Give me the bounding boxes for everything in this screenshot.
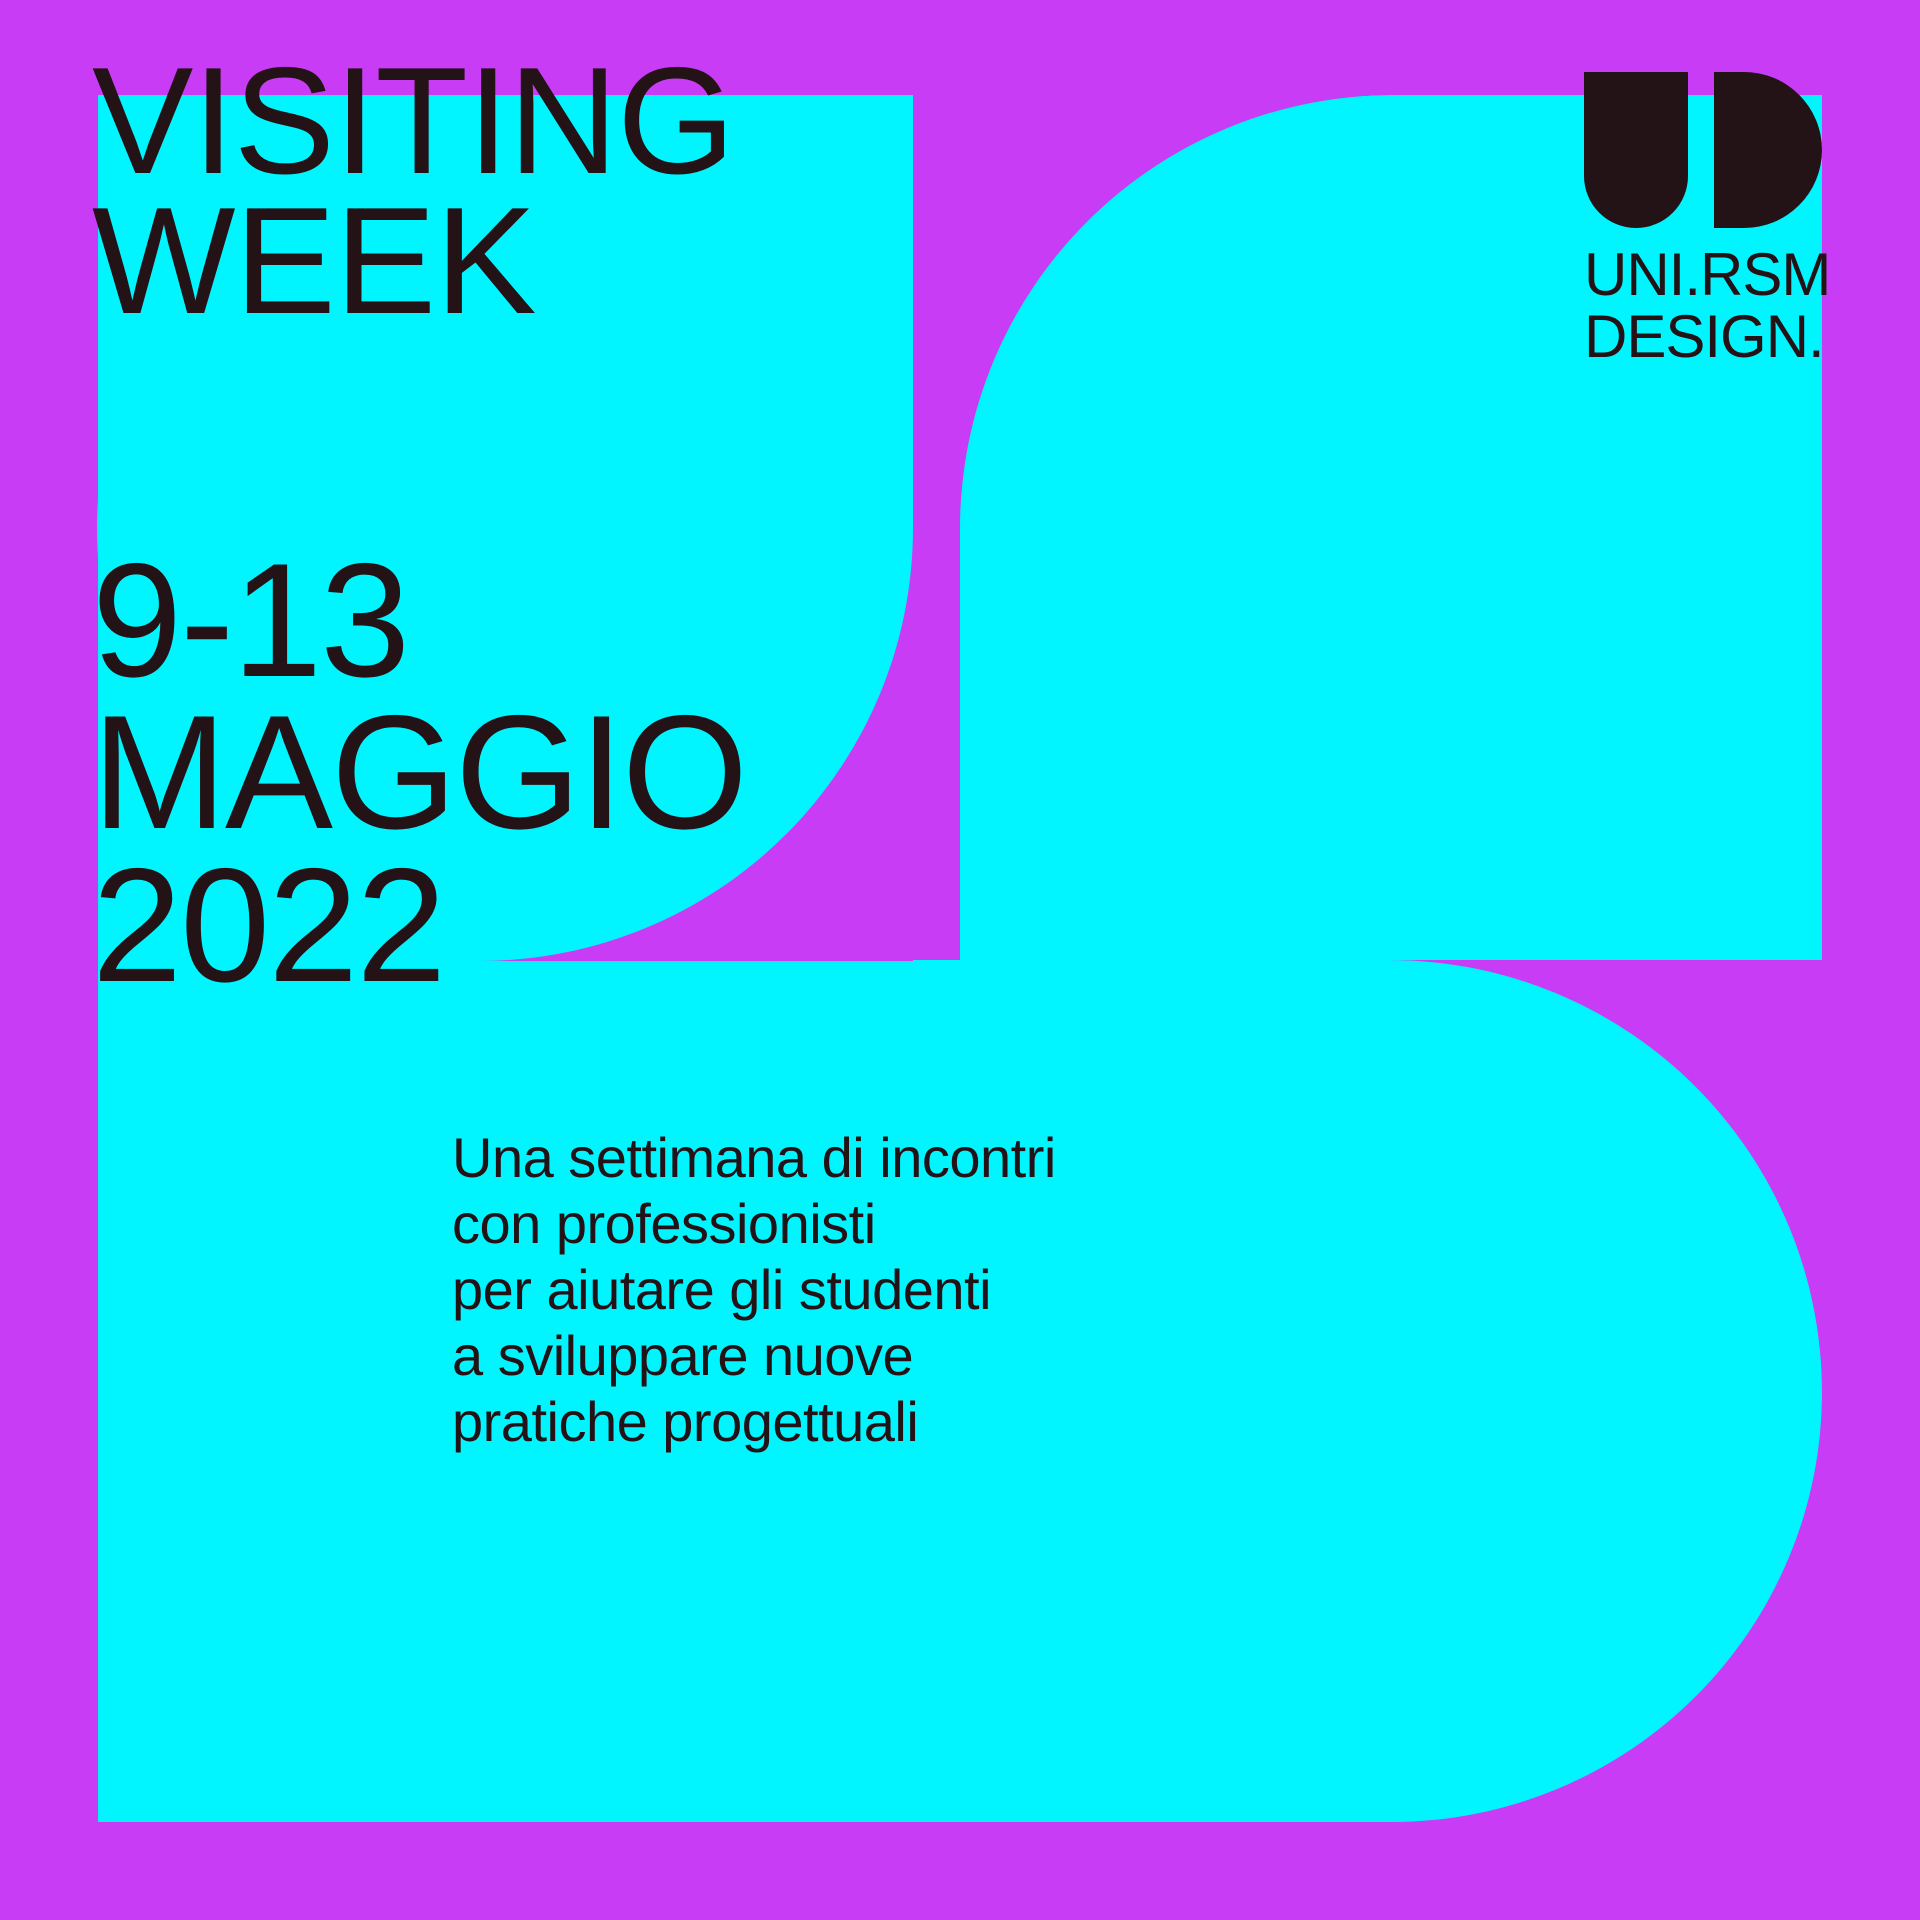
logo-wordmark: UNI.RSM DESIGN. (1584, 244, 1824, 368)
magenta-counter-upper-left (913, 95, 960, 960)
poster-canvas: VISITING WEEK 9-13 MAGGIO 2022 Una setti… (0, 0, 1920, 1920)
logo-letter-d-icon (1714, 72, 1822, 228)
event-description: Una settimana di incontri con profession… (452, 1125, 1056, 1455)
event-dates: 9-13 MAGGIO 2022 (92, 545, 746, 1002)
logo-letter-u-icon (1584, 72, 1688, 228)
ud-monogram-icon (1584, 72, 1822, 228)
brand-logo: UNI.RSM DESIGN. (1584, 72, 1824, 368)
cyan-lower-right-lobe (960, 960, 1822, 1822)
page-title: VISITING WEEK (92, 52, 734, 332)
